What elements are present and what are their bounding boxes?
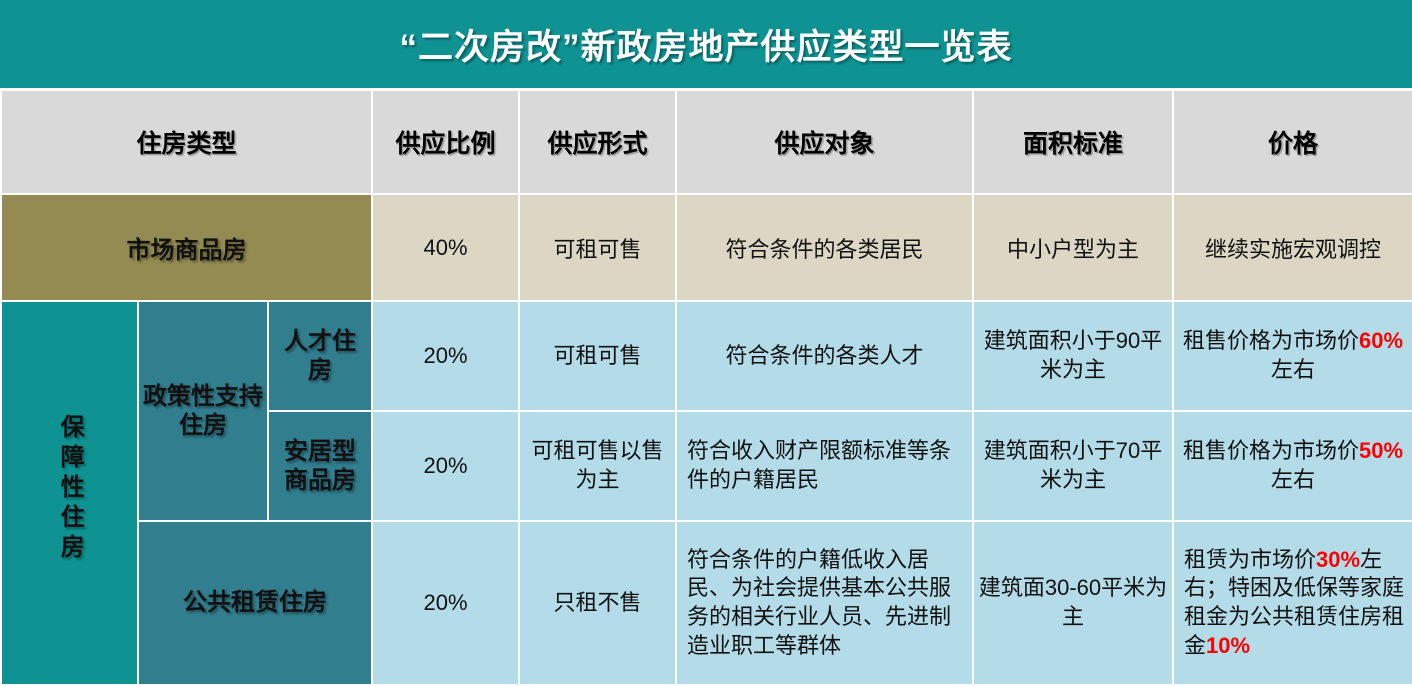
talent-supply-form: 可租可售 bbox=[519, 301, 676, 411]
anju-supply-form: 可租可售以售为主 bbox=[519, 411, 676, 521]
public-supply-target: 符合条件的户籍低收入居民、为社会提供基本公共服务的相关行业人员、先进制造业职工等… bbox=[676, 521, 973, 685]
header-area-standard: 面积标准 bbox=[973, 90, 1173, 195]
anju-area-standard: 建筑面积小于70平米为主 bbox=[973, 411, 1173, 521]
public-area-standard: 建筑面30-60平米为主 bbox=[973, 521, 1173, 685]
row-label-talent-housing: 人才住房 bbox=[268, 301, 372, 411]
row-label-market-housing: 市场商品房 bbox=[1, 194, 372, 301]
header-housing-type: 住房类型 bbox=[1, 90, 372, 195]
table-row-talent-housing: 保障性住房 政策性支持住房 人才住房 20% 可租可售 符合条件的各类人才 建筑… bbox=[1, 301, 1412, 411]
housing-supply-table: 住房类型 供应比例 供应形式 供应对象 面积标准 价格 市场商品房 40% 可租… bbox=[0, 88, 1412, 686]
public-price-highlight2: 10% bbox=[1206, 633, 1250, 658]
row-label-policy-support-housing: 政策性支持住房 bbox=[138, 301, 268, 521]
talent-area-standard: 建筑面积小于90平米为主 bbox=[973, 301, 1173, 411]
row-label-guaranteed-housing: 保障性住房 bbox=[1, 301, 138, 685]
market-supply-ratio: 40% bbox=[372, 194, 519, 301]
public-supply-form: 只租不售 bbox=[519, 521, 676, 685]
row-label-anju-housing: 安居型商品房 bbox=[268, 411, 372, 521]
row-label-public-rental-housing: 公共租赁住房 bbox=[138, 521, 372, 685]
public-supply-ratio: 20% bbox=[372, 521, 519, 685]
public-price: 租赁为市场价30%左右；特困及低保等家庭租金为公共租赁住房租金10% bbox=[1173, 521, 1412, 685]
anju-supply-ratio: 20% bbox=[372, 411, 519, 521]
page-title: “二次房改”新政房地产供应类型一览表 bbox=[399, 19, 1012, 70]
header-supply-target: 供应对象 bbox=[676, 90, 973, 195]
infographic-table-page: “二次房改”新政房地产供应类型一览表 住房类型 供应比例 供应形式 供应对象 面… bbox=[0, 0, 1412, 671]
anju-price: 租售价格为市场价50%左右 bbox=[1173, 411, 1412, 521]
market-supply-target: 符合条件的各类居民 bbox=[676, 194, 973, 301]
guaranteed-housing-vertical-text: 保障性住房 bbox=[57, 414, 82, 564]
anju-price-highlight: 50% bbox=[1359, 438, 1403, 463]
market-supply-form: 可租可售 bbox=[519, 194, 676, 301]
talent-price-highlight: 60% bbox=[1359, 328, 1403, 353]
anju-supply-target: 符合收入财产限额标准等条件的户籍居民 bbox=[676, 411, 973, 521]
market-price: 继续实施宏观调控 bbox=[1173, 194, 1412, 301]
header-price: 价格 bbox=[1173, 90, 1412, 195]
talent-supply-ratio: 20% bbox=[372, 301, 519, 411]
public-price-highlight1: 30% bbox=[1316, 547, 1360, 572]
table-row-market-housing: 市场商品房 40% 可租可售 符合条件的各类居民 中小户型为主 继续实施宏观调控 bbox=[1, 194, 1412, 301]
anju-price-suffix: 左右 bbox=[1271, 467, 1315, 492]
header-supply-ratio: 供应比例 bbox=[372, 90, 519, 195]
talent-price-suffix: 左右 bbox=[1271, 357, 1315, 382]
table-row-public-rental-housing: 公共租赁住房 20% 只租不售 符合条件的户籍低收入居民、为社会提供基本公共服务… bbox=[1, 521, 1412, 685]
talent-supply-target: 符合条件的各类人才 bbox=[676, 301, 973, 411]
market-area-standard: 中小户型为主 bbox=[973, 194, 1173, 301]
anju-price-prefix: 租售价格为市场价 bbox=[1183, 438, 1359, 463]
title-banner: “二次房改”新政房地产供应类型一览表 bbox=[0, 0, 1412, 88]
talent-price-prefix: 租售价格为市场价 bbox=[1183, 328, 1359, 353]
public-price-seg1: 租赁为市场价 bbox=[1184, 547, 1316, 572]
talent-price: 租售价格为市场价60%左右 bbox=[1173, 301, 1412, 411]
header-supply-form: 供应形式 bbox=[519, 90, 676, 195]
table-header-row: 住房类型 供应比例 供应形式 供应对象 面积标准 价格 bbox=[1, 90, 1412, 195]
